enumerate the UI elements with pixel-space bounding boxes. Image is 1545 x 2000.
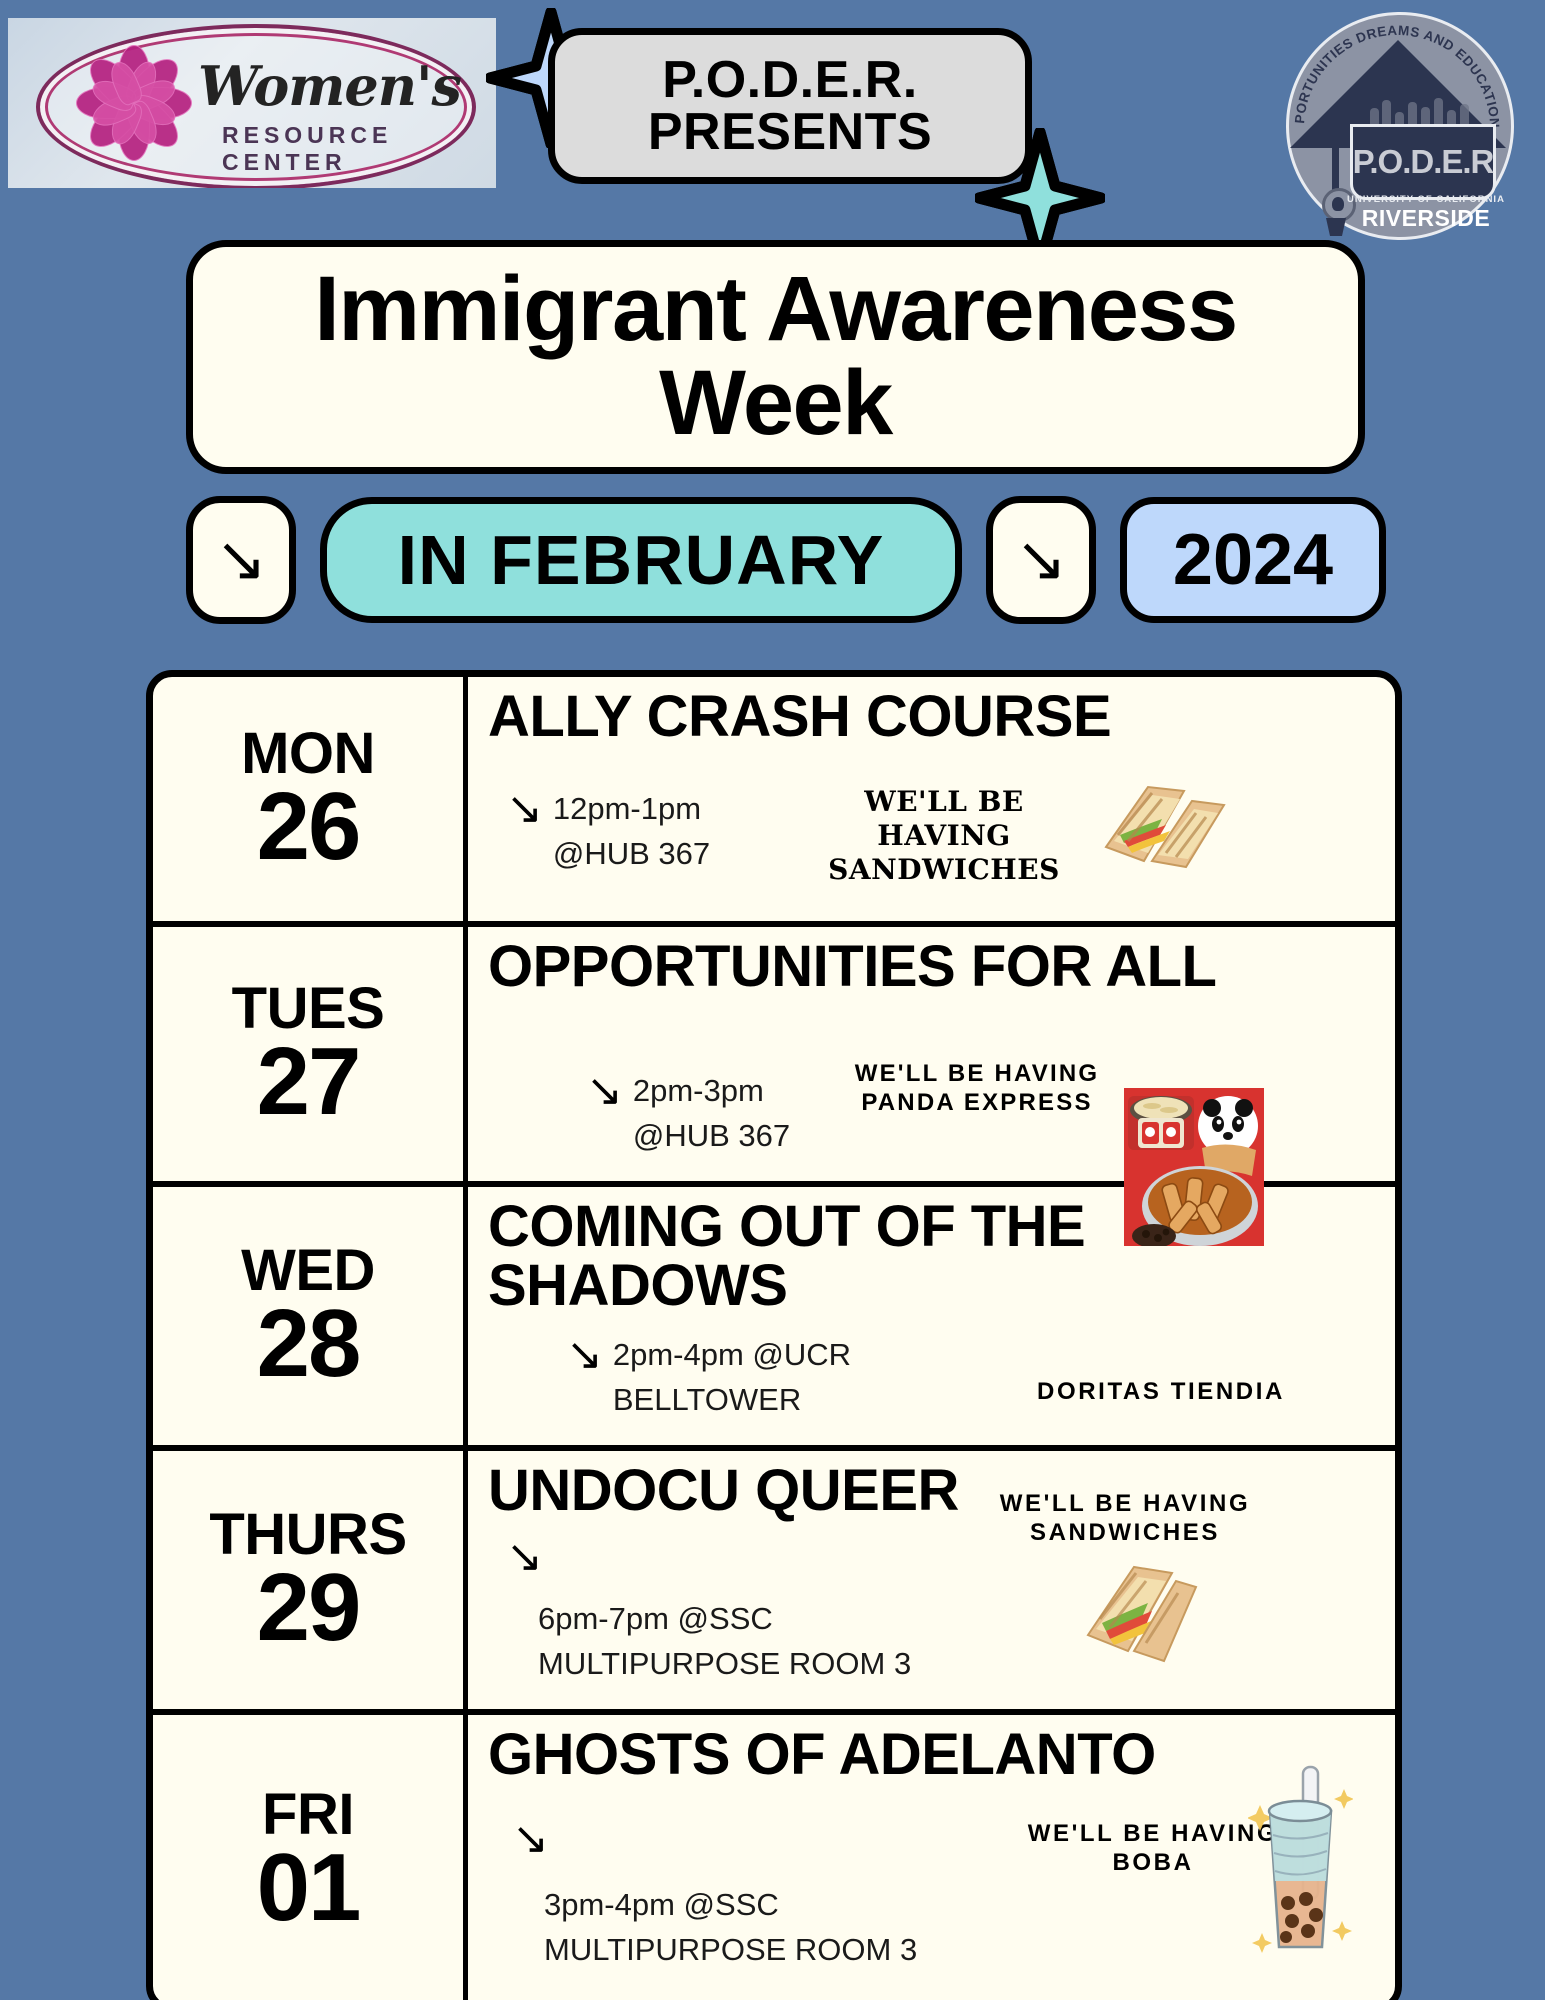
seal-acronym: P.O.D.E.R xyxy=(1353,143,1494,181)
table-row: WED 28 COMING OUT OF THE SHADOWS ↘ 2pm-4… xyxy=(153,1187,1395,1451)
sandwich-icon xyxy=(1080,1555,1198,1665)
date-row: ↘ IN FEBRUARY ↘ 2024 xyxy=(186,500,1366,620)
day-number: 29 xyxy=(257,1562,360,1653)
arrow-down-right-icon: ↘ xyxy=(215,529,267,591)
event-meta: ↘ 12pm-1pm @HUB 367 xyxy=(506,787,710,877)
presents-line-1: P.O.D.E.R. xyxy=(662,54,917,106)
month-label: IN FEBRUARY xyxy=(398,520,885,600)
table-row: MON 26 ALLY CRASH COURSE ↘ 12pm-1pm @HUB… xyxy=(153,677,1395,927)
schedule-table: MON 26 ALLY CRASH COURSE ↘ 12pm-1pm @HUB… xyxy=(146,670,1402,2000)
presents-line-2: PRESENTS xyxy=(648,106,932,158)
day-cell: TUES 27 xyxy=(153,927,468,1181)
year-label: 2024 xyxy=(1173,519,1333,601)
food-note: WE'LL BE HAVING SANDWICHES xyxy=(960,1489,1290,1548)
table-row: THURS 29 UNDOCU QUEER ↘ 6pm-7pm @SSC MUL… xyxy=(153,1451,1395,1715)
food-note: WE'LL BE HAVING SANDWICHES xyxy=(804,785,1084,887)
poder-presents-bubble: P.O.D.E.R. PRESENTS xyxy=(548,28,1032,184)
event-time-location: 3pm-4pm @SSC MULTIPURPOSE ROOM 3 xyxy=(544,1883,917,1973)
event-cell: COMING OUT OF THE SHADOWS ↘ 2pm-4pm @UCR… xyxy=(468,1187,1395,1445)
event-time-location: 6pm-7pm @SSC MULTIPURPOSE ROOM 3 xyxy=(538,1597,911,1687)
event-cell: UNDOCU QUEER ↘ 6pm-7pm @SSC MULTIPURPOSE… xyxy=(468,1451,1395,1709)
sandwich-icon xyxy=(1100,777,1228,869)
page-title: Immigrant Awareness Week xyxy=(193,263,1358,451)
arrow-down-right-icon: ↘ xyxy=(506,1535,543,1579)
event-time-location: 2pm-3pm @HUB 367 xyxy=(633,1069,790,1159)
food-note: WE'LL BE HAVING PANDA EXPRESS xyxy=(852,1059,1102,1118)
event-cell: OPPORTUNITIES FOR ALL ↘ 2pm-3pm @HUB 367… xyxy=(468,927,1395,1181)
month-pill: IN FEBRUARY xyxy=(320,497,962,623)
arrow-down-right-icon: ↘ xyxy=(566,1333,603,1377)
day-cell: FRI 01 xyxy=(153,1715,468,2000)
wrc-subtitle: RESOURCE CENTER xyxy=(222,122,496,176)
poder-riverside-seal: PROVIDING OPPORTUNITIES DREAMS AND EDUCA… xyxy=(1272,2,1522,240)
poster-canvas: Women's RESOURCE CENTER P.O.D.E.R. PRESE… xyxy=(0,0,1545,2000)
womens-resource-center-logo: Women's RESOURCE CENTER xyxy=(8,18,496,188)
event-time-location: 12pm-1pm @HUB 367 xyxy=(553,787,710,877)
page-title-box: Immigrant Awareness Week xyxy=(186,240,1365,474)
event-cell: GHOSTS OF ADELANTO ↘ 3pm-4pm @SSC MULTIP… xyxy=(468,1715,1395,2000)
lotus-flower-icon xyxy=(74,42,192,160)
boba-icon xyxy=(1248,1763,1353,1953)
seal-campus-label: RIVERSIDE xyxy=(1346,205,1506,232)
event-meta: ↘ 2pm-3pm @HUB 367 xyxy=(586,1069,790,1159)
seal-university-label: UNIVERSITY OF CALIFORNIA xyxy=(1346,194,1506,205)
year-pill: 2024 xyxy=(1120,497,1386,623)
day-number: 01 xyxy=(257,1842,360,1933)
event-title: COMING OUT OF THE SHADOWS xyxy=(482,1197,1383,1315)
day-number: 27 xyxy=(257,1036,360,1127)
day-number: 26 xyxy=(257,781,360,872)
day-number: 28 xyxy=(257,1298,360,1389)
event-title: OPPORTUNITIES FOR ALL xyxy=(482,937,1383,996)
event-cell: ALLY CRASH COURSE ↘ 12pm-1pm @HUB 367 WE… xyxy=(468,677,1395,921)
arrow-down-right-icon: ↘ xyxy=(586,1069,623,1113)
wrc-wordmark: Women's xyxy=(198,54,461,118)
event-meta: ↘ 2pm-4pm @UCR BELLTOWER xyxy=(566,1333,851,1423)
day-cell: WED 28 xyxy=(153,1187,468,1445)
food-note: DORITAS TIENDIA xyxy=(996,1377,1326,1406)
day-cell: THURS 29 xyxy=(153,1451,468,1709)
event-time-location: 2pm-4pm @UCR BELLTOWER xyxy=(613,1333,851,1423)
table-row: FRI 01 GHOSTS OF ADELANTO ↘ 3pm-4pm @SSC… xyxy=(153,1715,1395,2000)
arrow-pill-2: ↘ xyxy=(986,496,1096,624)
day-cell: MON 26 xyxy=(153,677,468,921)
arrow-down-right-icon: ↘ xyxy=(512,1817,549,1861)
arrow-down-right-icon: ↘ xyxy=(1015,529,1067,591)
arrow-down-right-icon: ↘ xyxy=(506,787,543,831)
event-title: ALLY CRASH COURSE xyxy=(482,687,1383,746)
table-row: TUES 27 OPPORTUNITIES FOR ALL ↘ 2pm-3pm … xyxy=(153,927,1395,1187)
seal-acronym-band: P.O.D.E.R xyxy=(1350,124,1496,200)
arrow-pill-1: ↘ xyxy=(186,496,296,624)
